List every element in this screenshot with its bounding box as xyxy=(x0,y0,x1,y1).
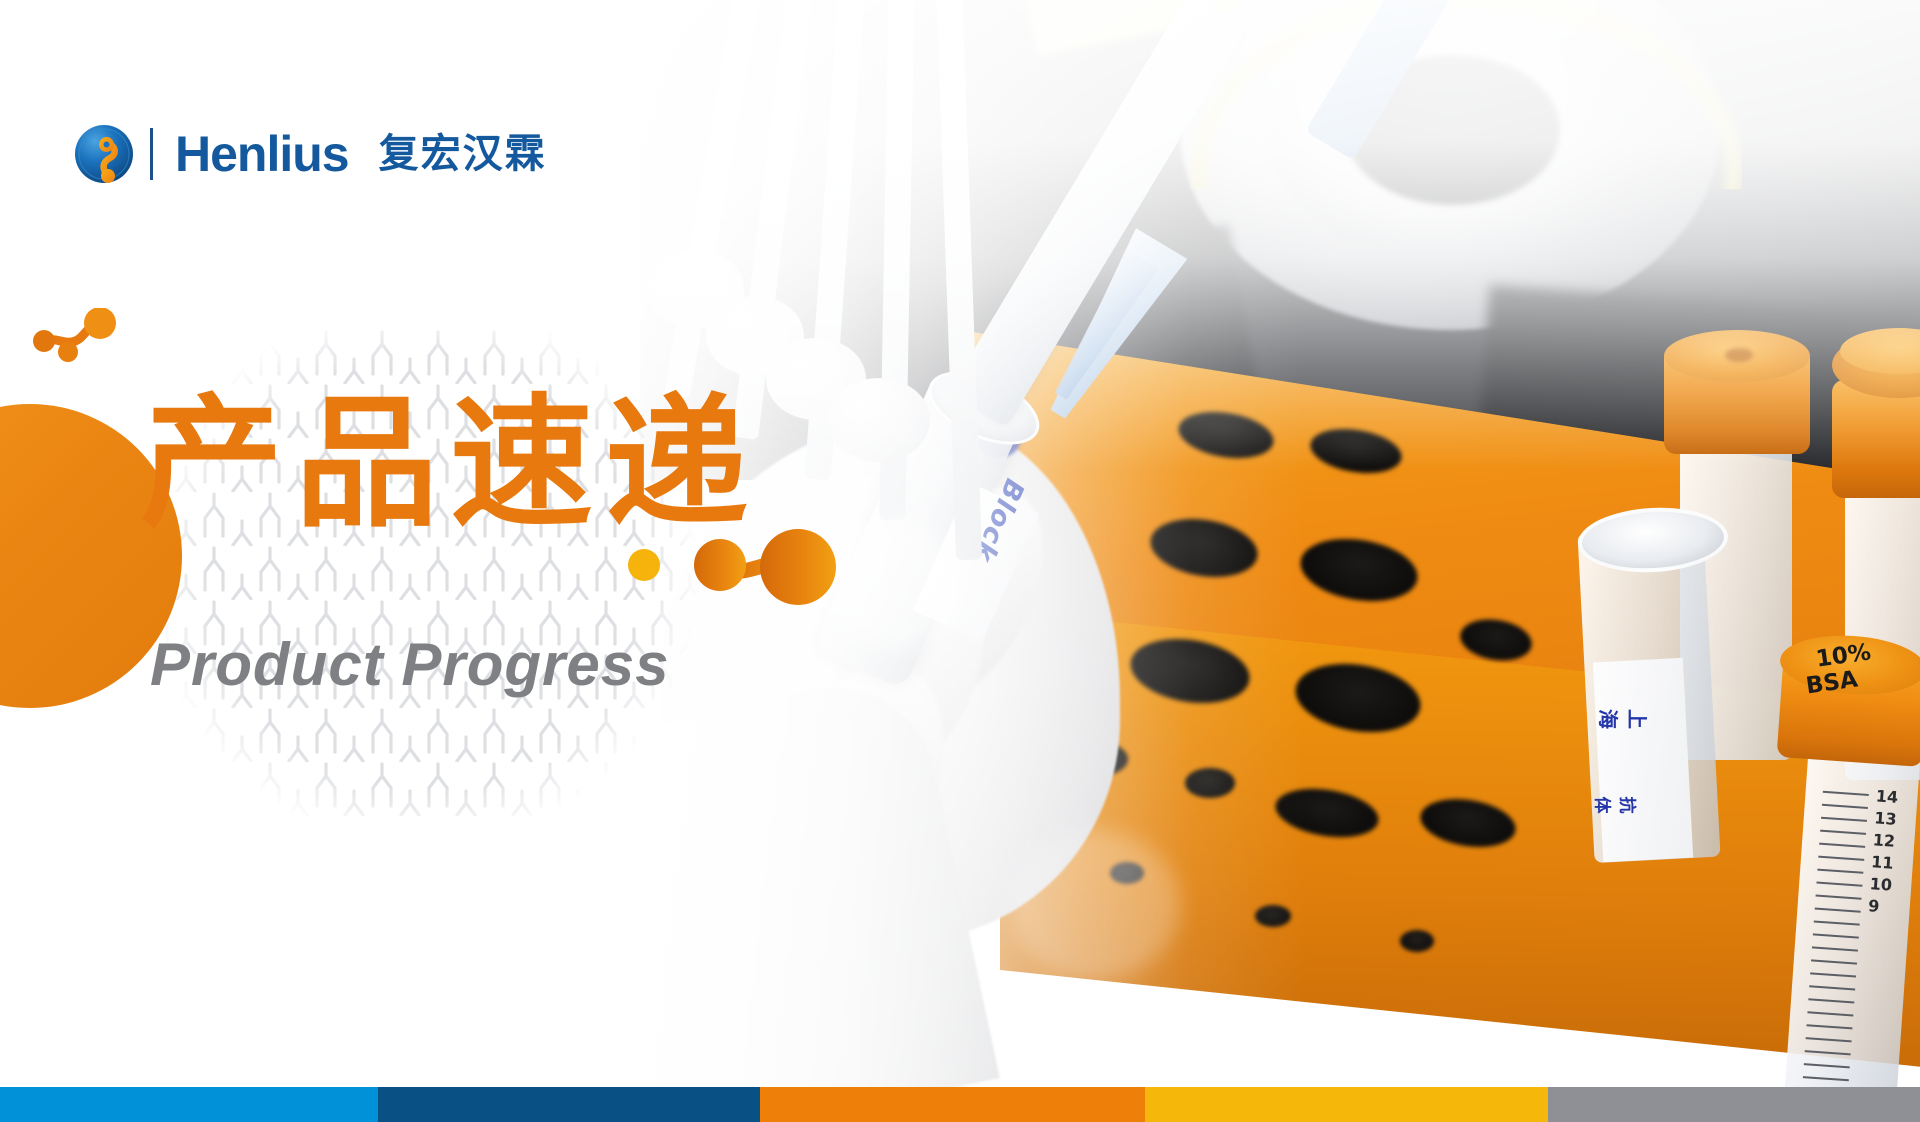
logo-divider xyxy=(150,128,153,180)
molecule-dumbbell-small-icon xyxy=(30,308,122,372)
segment-gray xyxy=(1548,1087,1920,1122)
segment-dark-blue xyxy=(378,1087,760,1122)
segment-yellow xyxy=(1145,1087,1548,1122)
segment-orange xyxy=(760,1087,1145,1122)
bottom-color-bar xyxy=(0,1087,1920,1122)
amber-dot-decoration xyxy=(628,549,660,581)
segment-light-blue xyxy=(0,1087,378,1122)
page-title-english: Product Progress xyxy=(150,630,669,699)
henlius-molecule-mark-icon xyxy=(74,124,134,184)
logo-english-name: Henlius xyxy=(175,129,349,179)
henlius-logo[interactable]: Henlius 复宏汉霖 xyxy=(74,121,547,187)
logo-chinese-name: 复宏汉霖 xyxy=(379,134,547,174)
presentation-slide: 上海 抗体 10% BSA 14131211109 xyxy=(0,0,1920,1122)
page-title-chinese: 产品速递 xyxy=(140,380,760,549)
